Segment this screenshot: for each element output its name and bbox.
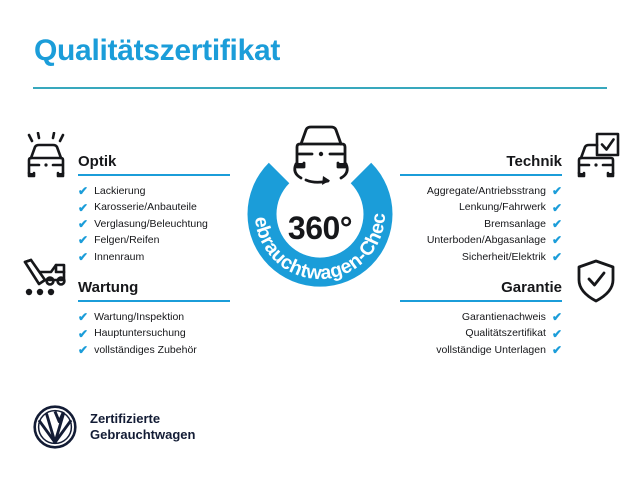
shield-check-icon — [575, 258, 617, 309]
list-item: Qualitätszertifikat✔ — [400, 325, 562, 341]
section-header-optik: Optik — [78, 146, 230, 172]
checklist-technik: Aggregate/Antriebsstrang✔ Lenkung/Fahrwe… — [400, 183, 562, 265]
list-item-label: Aggregate/Antriebsstrang — [427, 183, 546, 199]
car-front-headlights-icon — [22, 132, 70, 183]
check-icon: ✔ — [552, 344, 562, 356]
check-icon: ✔ — [552, 311, 562, 323]
list-item-label: Qualitätszertifikat — [465, 325, 546, 341]
check-icon: ✔ — [78, 251, 88, 263]
list-item: Unterboden/Abgasanlage✔ — [400, 232, 562, 248]
list-item: ✔Wartung/Inspektion — [78, 309, 230, 325]
check-icon: ✔ — [78, 344, 88, 356]
section-title-garantie: Garantie — [501, 279, 562, 296]
section-title-technik: Technik — [506, 153, 562, 170]
section-header-technik: Technik — [400, 146, 562, 172]
list-item-label: Unterboden/Abgasanlage — [427, 232, 546, 248]
check-icon: ✔ — [78, 185, 88, 197]
list-item-label: vollständiges Zubehör — [94, 342, 197, 358]
360-check-badge: Gebrauchtwagen-Check 360° — [228, 122, 412, 306]
section-title-wartung: Wartung — [78, 279, 138, 296]
check-icon: ✔ — [552, 185, 562, 197]
list-item: ✔vollständiges Zubehör — [78, 342, 230, 358]
footer: Zertifizierte Gebrauchtwagen — [33, 405, 195, 449]
list-item: vollständige Unterlagen✔ — [400, 342, 562, 358]
section-title-optik: Optik — [78, 153, 116, 170]
list-item-label: Lackierung — [94, 183, 145, 199]
list-item-label: Innenraum — [94, 249, 144, 265]
list-item: ✔Felgen/Reifen — [78, 232, 230, 248]
section-header-garantie: Garantie — [400, 272, 562, 298]
check-icon: ✔ — [552, 251, 562, 263]
list-item: Bremsanlage✔ — [400, 216, 562, 232]
list-item: ✔Lackierung — [78, 183, 230, 199]
section-header-wartung: Wartung — [78, 272, 230, 298]
list-item-label: Wartung/Inspektion — [94, 309, 184, 325]
list-item: ✔Innenraum — [78, 249, 230, 265]
list-item: Garantienachweis✔ — [400, 309, 562, 325]
check-icon: ✔ — [78, 218, 88, 230]
section-divider-optik — [78, 174, 230, 176]
header-divider — [33, 87, 607, 89]
check-icon: ✔ — [78, 234, 88, 246]
check-icon: ✔ — [552, 218, 562, 230]
list-item-label: Garantienachweis — [462, 309, 546, 325]
list-item: Sicherheit/Elektrik✔ — [400, 249, 562, 265]
badge-value: 360° — [228, 210, 412, 247]
list-item-label: Karosserie/Anbauteile — [94, 199, 197, 215]
list-item: ✔Hauptuntersuchung — [78, 325, 230, 341]
section-technik: Technik Aggregate/Antriebsstrang✔ Lenkun… — [400, 146, 562, 265]
check-icon: ✔ — [78, 202, 88, 214]
list-item: ✔Karosserie/Anbauteile — [78, 199, 230, 215]
list-item-label: vollständige Unterlagen — [436, 342, 546, 358]
checklist-wartung: ✔Wartung/Inspektion ✔Hauptuntersuchung ✔… — [78, 309, 230, 358]
footer-label: Zertifizierte Gebrauchtwagen — [90, 411, 195, 443]
list-item-label: Hauptuntersuchung — [94, 325, 186, 341]
list-item-label: Bremsanlage — [484, 216, 546, 232]
page-title: Qualitätszertifikat — [34, 34, 280, 68]
car-rotate-360-icon — [282, 120, 360, 195]
car-front-checkbox-icon — [572, 132, 620, 183]
section-divider-garantie — [400, 300, 562, 302]
section-divider-technik — [400, 174, 562, 176]
list-item: Lenkung/Fahrwerk✔ — [400, 199, 562, 215]
section-wartung: Wartung ✔Wartung/Inspektion ✔Hauptunters… — [78, 272, 230, 358]
section-optik: Optik ✔Lackierung ✔Karosserie/Anbauteile… — [78, 146, 230, 265]
list-item-label: Felgen/Reifen — [94, 232, 159, 248]
check-icon: ✔ — [552, 234, 562, 246]
check-icon: ✔ — [78, 328, 88, 340]
list-item-label: Sicherheit/Elektrik — [462, 249, 546, 265]
checklist-optik: ✔Lackierung ✔Karosserie/Anbauteile ✔Verg… — [78, 183, 230, 265]
check-icon: ✔ — [552, 202, 562, 214]
section-garantie: Garantie Garantienachweis✔ Qualitätszert… — [400, 272, 562, 358]
list-item: Aggregate/Antriebsstrang✔ — [400, 183, 562, 199]
volkswagen-logo — [33, 405, 77, 449]
checklist-garantie: Garantienachweis✔ Qualitätszertifikat✔ v… — [400, 309, 562, 358]
list-item-label: Verglasung/Beleuchtung — [94, 216, 208, 232]
list-item: ✔Verglasung/Beleuchtung — [78, 216, 230, 232]
list-item-label: Lenkung/Fahrwerk — [459, 199, 546, 215]
car-service-pen-icon — [20, 258, 70, 305]
qualitaetszertifikat-infographic: Qualitätszertifikat — [0, 0, 640, 480]
section-divider-wartung — [78, 300, 230, 302]
check-icon: ✔ — [78, 311, 88, 323]
check-icon: ✔ — [552, 328, 562, 340]
